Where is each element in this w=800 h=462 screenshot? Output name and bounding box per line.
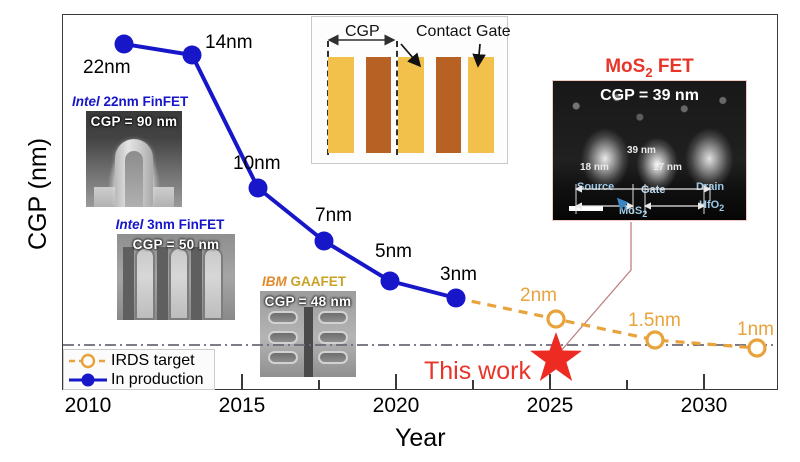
nanosheet: [268, 311, 298, 324]
mos2-title-main: MoS: [605, 56, 645, 77]
inset-intel-3nm-caption: Intel 3nm FinFET: [105, 218, 235, 232]
inset-ibm-overlay: CGP = 48 nm: [260, 294, 356, 309]
fin-3nm: [203, 247, 223, 320]
chart-root: CGP (nm) 80 60 40 2010 2015 2020 2025 20…: [0, 0, 800, 462]
contact-schematic-label: Contact: [416, 23, 471, 41]
intel-brand-22: Intel: [72, 94, 100, 109]
nanosheet: [268, 331, 298, 344]
this-work-label: This work: [424, 357, 531, 386]
gaa-gap: [304, 307, 313, 377]
mos2-oxide-main: HfO: [699, 199, 719, 211]
label-14nm: 14nm: [205, 32, 253, 54]
mos2-dim-left: 18 nm: [580, 162, 609, 173]
legend-item-production[interactable]: In production: [68, 370, 204, 389]
label-10nm: 10nm: [233, 153, 281, 175]
mos2-channel-label: MoS2: [619, 205, 647, 219]
fin-core: [125, 151, 143, 207]
inset-intel-22nm-overlay: CGP = 90 nm: [86, 114, 182, 129]
mos2-fet-title: MoS2 FET: [552, 56, 747, 80]
chart-legend: IRDS target In production: [63, 349, 215, 390]
inset-intel-3nm-text: 3nm FinFET: [143, 217, 224, 232]
mos2-source-label: Source: [577, 181, 614, 193]
x-axis-title: Year: [395, 424, 446, 453]
micrograph-ibm-gaafet: CGP = 48 nm: [260, 291, 356, 377]
legend-label-production: In production: [111, 371, 204, 389]
mos2-gate-label: Gate: [641, 184, 665, 196]
mos2-dim-right: 17 nm: [653, 162, 682, 173]
x-tick-label-2030: 2030: [664, 394, 744, 418]
mos2-title-tail: FET: [653, 56, 694, 77]
nanosheet: [318, 351, 348, 364]
x-tick-major-2025: [549, 374, 551, 390]
label-7nm: 7nm: [315, 205, 352, 227]
mos2-cgp-overlay: CGP = 39 nm: [553, 87, 746, 105]
fin-gap: [157, 247, 168, 320]
inset-cgp-schematic: CGP Contact Gate: [311, 16, 508, 164]
x-tick-minor-2027: [626, 380, 628, 390]
fin-structure: [115, 139, 153, 207]
mos2-title-sub: 2: [645, 65, 652, 80]
x-tick-major-2020: [395, 374, 397, 390]
gate-bar: [398, 57, 424, 153]
contact-bar: [366, 57, 391, 153]
mos2-oxide-label: HfO2: [699, 199, 724, 213]
legend-item-irds[interactable]: IRDS target: [68, 351, 195, 370]
inset-mos2-fet: MoS2 FET CGP = 39 nm 39 nm 18 nm 17 nm S…: [552, 56, 747, 221]
fin-gap: [191, 247, 202, 320]
label-1nm: 1nm: [737, 319, 774, 341]
x-tick-label-2015: 2015: [202, 394, 282, 418]
mos2-oxide-sub: 2: [719, 203, 724, 213]
x-tick-label-2010: 2010: [48, 394, 128, 418]
label-5nm: 5nm: [375, 241, 412, 263]
inset-ibm-gaafet: IBM GAAFET CGP = 48 nm: [252, 275, 356, 377]
micrograph-intel-22nm: CGP = 90 nm: [86, 111, 182, 207]
inset-ibm-text: GAAFET: [287, 274, 346, 289]
mos2-drain-label: Drain: [696, 181, 724, 193]
inset-intel-3nm-overlay: CGP = 50 nm: [117, 237, 235, 252]
mos2-scale-bar: [569, 206, 603, 211]
legend-label-irds: IRDS target: [111, 352, 195, 370]
mos2-channel-sub: 2: [642, 209, 647, 219]
x-tick-major-2015: [241, 374, 243, 390]
mos2-channel-main: MoS: [619, 205, 642, 217]
x-tick-major-2030: [703, 374, 705, 390]
gate-bar: [468, 57, 494, 153]
fin-3nm: [135, 247, 155, 320]
inset-intel-22nm: Intel 22nm FinFET CGP = 90 nm: [72, 95, 188, 207]
nanosheet: [318, 331, 348, 344]
legend-sample-irds: [68, 352, 108, 370]
x-tick-minor-2017: [318, 380, 320, 390]
gate-bar: [328, 57, 354, 153]
nanosheet: [318, 311, 348, 324]
label-2nm: 2nm: [520, 285, 557, 307]
x-tick-label-2025: 2025: [510, 394, 590, 418]
inset-intel-22nm-text: 22nm FinFET: [100, 94, 189, 109]
cgp-schematic-label: CGP: [345, 23, 380, 41]
inset-intel-22nm-caption: Intel 22nm FinFET: [72, 95, 188, 109]
contact-bar: [436, 57, 461, 153]
label-1.5nm: 1.5nm: [628, 310, 681, 332]
nanosheet: [268, 351, 298, 364]
legend-sample-production: [68, 371, 108, 389]
label-22nm: 22nm: [83, 57, 131, 79]
ibm-brand: IBM: [262, 274, 287, 289]
x-tick-label-2020: 2020: [356, 394, 436, 418]
inset-intel-3nm: Intel 3nm FinFET CGP = 50 nm: [105, 218, 235, 320]
micrograph-intel-3nm: CGP = 50 nm: [117, 234, 235, 320]
inset-ibm-caption: IBM GAAFET: [252, 275, 356, 289]
intel-brand-3: Intel: [116, 217, 144, 232]
fin-3nm: [169, 247, 189, 320]
mos2-tem-image: CGP = 39 nm 39 nm 18 nm 17 nm Source Gat…: [552, 80, 747, 221]
mos2-dim-total: 39 nm: [627, 145, 656, 156]
gate-schematic-label: Gate: [476, 23, 511, 41]
fin-gap: [123, 247, 134, 320]
label-3nm: 3nm: [440, 264, 477, 286]
